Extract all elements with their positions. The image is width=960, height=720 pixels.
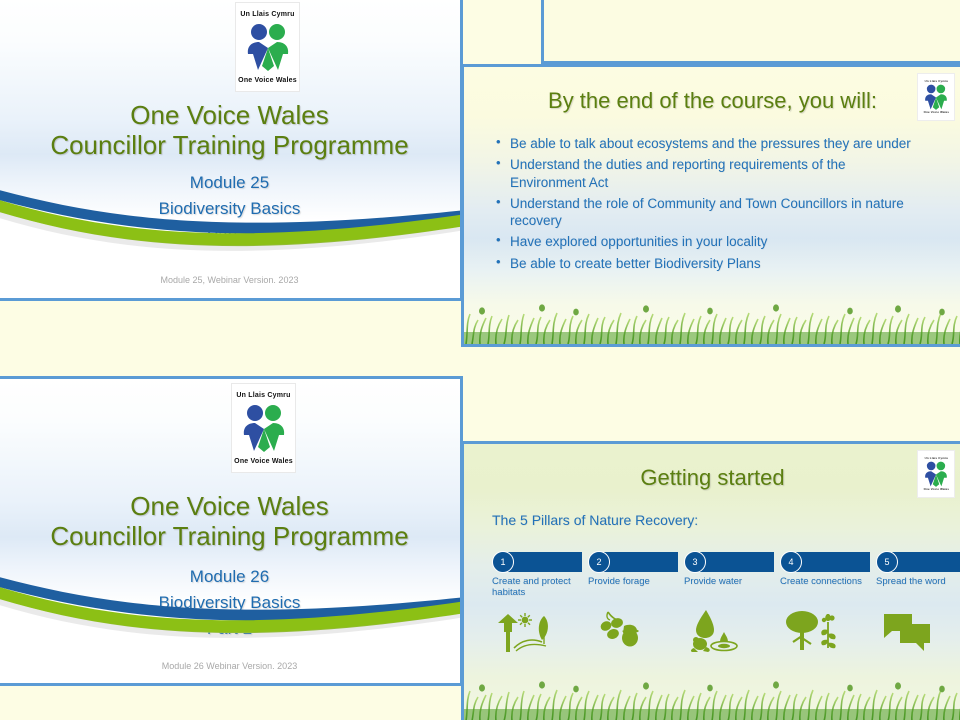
pillar-label: Spread the word [876, 576, 960, 587]
pillar-item-2[interactable]: 2 Provide forage [588, 552, 680, 587]
pillar-number: 1 [492, 551, 514, 573]
slide-heading-outcomes: By the end of the course, you will: [464, 89, 960, 113]
two-people-logo-icon [238, 402, 290, 454]
pillar-item-3[interactable]: 3 Provide water [684, 552, 776, 587]
slide-title-module-25[interactable]: Un Llais Cymru One Voice Wales One Voice… [0, 0, 463, 301]
slide-footer-version: Module 26 Webinar Version. 2023 [0, 661, 460, 671]
outcomes-bullet-list: Be able to talk about ecosystems and the… [496, 135, 916, 276]
slide-partial-top[interactable] [541, 0, 960, 64]
one-voice-wales-logo: Un Llais Cymru One Voice Wales [235, 2, 300, 92]
list-item: Be able to create better Biodiversity Pl… [496, 255, 916, 272]
green-blue-swoosh-graphic [0, 170, 463, 260]
logo-english-name: One Voice Wales [234, 458, 293, 465]
pillar-number: 4 [780, 551, 802, 573]
pillars-subheading: The 5 Pillars of Nature Recovery: [492, 512, 698, 528]
slide-heading-getting-started: Getting started [464, 466, 960, 490]
pillar-item-1[interactable]: 1 Create and protect habitats [492, 552, 584, 599]
two-people-logo-icon [242, 21, 294, 73]
pillar-number: 3 [684, 551, 706, 573]
slide-title-module-26[interactable]: Un Llais Cymru One Voice Wales One Voice… [0, 376, 463, 686]
slide-footer-version: Module 25, Webinar Version. 2023 [0, 275, 460, 285]
birdhouse-sun-leaf-icon [494, 608, 558, 654]
tree-plants-icon [782, 608, 850, 654]
slide-course-outcomes[interactable]: By the end of the course, you will: Un L… [461, 64, 960, 347]
pillar-label: Provide water [684, 576, 776, 587]
one-voice-wales-logo: Un Llais Cymru One Voice Wales [231, 383, 296, 473]
list-item: Understand the role of Community and Tow… [496, 195, 916, 230]
page-title-line-2: Councillor Training Programme [0, 521, 460, 552]
pillar-bar: 2 [594, 552, 678, 572]
pillar-item-5[interactable]: 5 Spread the word [876, 552, 960, 587]
pillar-number: 2 [588, 551, 610, 573]
pillar-bar: 4 [786, 552, 870, 572]
two-people-logo-icon [922, 460, 950, 488]
pillar-label: Create and protect habitats [492, 576, 584, 599]
green-blue-swoosh-graphic [0, 557, 463, 647]
pillar-bar: 5 [882, 552, 960, 572]
speech-bubbles-icon [878, 608, 942, 654]
screenshot-canvas: Un Llais Cymru One Voice Wales One Voice… [0, 0, 960, 720]
logo-english-name: One Voice Wales [238, 77, 297, 84]
page-title-line-2: Councillor Training Programme [0, 130, 460, 161]
pillar-number: 5 [876, 551, 898, 573]
grass-border-graphic [464, 302, 960, 344]
one-voice-wales-logo-small: Un Llais Cymru One Voice Wales [917, 73, 955, 121]
one-voice-wales-logo-small: Un Llais Cymru One Voice Wales [917, 450, 955, 498]
logo-welsh-name: Un Llais Cymru [240, 11, 294, 18]
pillar-item-4[interactable]: 4 Create connections [780, 552, 872, 587]
logo-welsh-name: Un Llais Cymru [236, 392, 290, 399]
logo-welsh-name: Un Llais Cymru [924, 80, 948, 83]
page-title-line-1: One Voice Wales [0, 100, 460, 131]
logo-english-name: One Voice Wales [923, 488, 949, 491]
pillar-label: Provide forage [588, 576, 680, 587]
two-people-logo-icon [922, 83, 950, 111]
berries-acorn-icon [590, 608, 654, 654]
list-item: Understand the duties and reporting requ… [496, 156, 916, 191]
slide-getting-started[interactable]: Getting started Un Llais Cymru One Voice… [461, 441, 960, 720]
list-item: Be able to talk about ecosystems and the… [496, 135, 916, 152]
frog-waterdrop-icon [686, 608, 754, 654]
logo-welsh-name: Un Llais Cymru [924, 457, 948, 460]
pillar-bar: 3 [690, 552, 774, 572]
pillar-bar: 1 [498, 552, 582, 572]
page-title-line-1: One Voice Wales [0, 491, 460, 522]
logo-english-name: One Voice Wales [923, 111, 949, 114]
grass-border-graphic [464, 679, 960, 720]
pillar-label: Create connections [780, 576, 872, 587]
list-item: Have explored opportunities in your loca… [496, 233, 916, 250]
